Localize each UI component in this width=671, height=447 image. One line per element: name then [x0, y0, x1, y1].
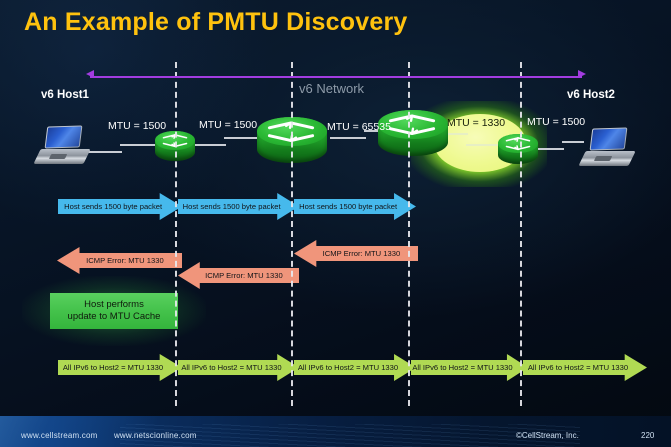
- packet-arrow-1-label: Host sends 1500 byte packet: [64, 202, 162, 211]
- mtu-arrow-2: All IPv6 to Host2 = MTU 1330: [178, 354, 299, 381]
- mtu-cache-note-line2: update to MTU Cache: [68, 311, 161, 323]
- mtu-label-4: MTU = 1330: [447, 117, 505, 129]
- mtu-arrow-5-label: All IPv6 to Host2 = MTU 1330: [528, 363, 628, 372]
- mtu-arrow-1-label: All IPv6 to Host2 = MTU 1330: [63, 363, 163, 372]
- segment-divider-1: [175, 62, 177, 406]
- segment-divider-4: [520, 62, 522, 406]
- segment-divider-3: [408, 62, 410, 406]
- host-left-laptop: [37, 126, 87, 164]
- mtu-arrow-3-label: All IPv6 to Host2 = MTU 1330: [298, 363, 398, 372]
- mtu-label-1: MTU = 1500: [108, 120, 166, 132]
- packet-arrow-2-label: Host sends 1500 byte packet: [183, 202, 281, 211]
- footer-link-netscionline[interactable]: www.netscionline.com: [114, 431, 197, 440]
- mtu-label-3: MTU = 65535: [327, 121, 391, 133]
- link-r3-r4-b: [466, 144, 500, 146]
- icmp-arrow-1: ICMP Error: MTU 1330: [57, 247, 182, 274]
- mtu-arrow-1: All IPv6 to Host2 = MTU 1330: [58, 354, 182, 381]
- link-r4-laptop2-b: [562, 141, 584, 143]
- mtu-cache-note-line1: Host performs: [84, 299, 144, 311]
- host-right-laptop-screen: [590, 127, 628, 150]
- footer: www.cellstream.com www.netscionline.com …: [0, 416, 671, 447]
- network-span-arrow-left-head: [86, 70, 94, 78]
- footer-link-cellstream[interactable]: www.cellstream.com: [21, 431, 98, 440]
- host-right-laptop: [582, 128, 632, 166]
- packet-arrow-2: Host sends 1500 byte packet: [178, 193, 299, 220]
- segment-divider-2: [291, 62, 293, 406]
- link-r2-r3-a: [330, 137, 366, 139]
- packet-arrow-3-label: Host sends 1500 byte packet: [299, 202, 397, 211]
- link-r4-laptop2-a: [534, 148, 564, 150]
- packet-arrow-1: Host sends 1500 byte packet: [58, 193, 182, 220]
- mtu-arrow-2-label: All IPv6 to Host2 = MTU 1330: [181, 363, 281, 372]
- host-left-label: v6 Host1: [41, 89, 89, 101]
- footer-page-number: 220: [641, 431, 654, 440]
- network-span-arrow: [90, 76, 582, 78]
- host-left-laptop-trackpad: [49, 154, 68, 159]
- footer-links: www.cellstream.com www.netscionline.com: [21, 431, 211, 440]
- packet-arrow-3: Host sends 1500 byte packet: [294, 193, 416, 220]
- router-4: [498, 134, 538, 164]
- mtu-arrow-4: All IPv6 to Host2 = MTU 1330: [411, 354, 528, 381]
- router-4-arrows-icon: [498, 134, 538, 153]
- link-laptop1-a: [84, 151, 122, 153]
- icmp-arrow-1-label: ICMP Error: MTU 1330: [86, 256, 164, 265]
- mtu-cache-note: Host performs update to MTU Cache: [38, 288, 190, 334]
- slide-canvas: An Example of PMTU Discovery v6 Network …: [0, 0, 671, 447]
- network-label: v6 Network: [299, 81, 364, 96]
- mtu-label-5: MTU = 1500: [527, 116, 585, 128]
- icmp-arrow-3-label: ICMP Error: MTU 1330: [323, 249, 401, 258]
- network-span-arrow-right-head: [578, 70, 586, 78]
- mtu-arrow-4-label: All IPv6 to Host2 = MTU 1330: [412, 363, 512, 372]
- mtu-arrow-3: All IPv6 to Host2 = MTU 1330: [294, 354, 416, 381]
- footer-copyright: ©CellStream, Inc.: [516, 431, 579, 440]
- host-right-laptop-trackpad: [594, 156, 613, 161]
- page-title: An Example of PMTU Discovery: [24, 8, 407, 37]
- host-left-laptop-screen: [45, 125, 83, 148]
- router-3: [378, 110, 448, 156]
- icmp-arrow-2-label: ICMP Error: MTU 1330: [205, 271, 283, 280]
- mtu-cache-note-box: Host performs update to MTU Cache: [50, 293, 178, 329]
- host-right-label: v6 Host2: [567, 89, 615, 101]
- mtu-label-2: MTU = 1500: [199, 119, 257, 131]
- mtu-arrow-5: All IPv6 to Host2 = MTU 1330: [523, 354, 647, 381]
- icmp-arrow-3: ICMP Error: MTU 1330: [294, 240, 418, 267]
